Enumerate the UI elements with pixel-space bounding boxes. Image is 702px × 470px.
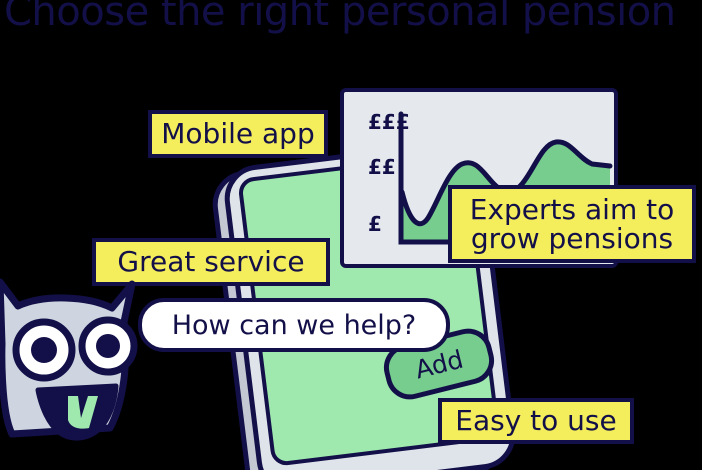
tag-easy-to-use: Easy to use (438, 398, 634, 444)
y-tick-label-2: ££ (368, 157, 396, 177)
y-tick-label-1: £ (368, 214, 382, 234)
tag-mobile-app: Mobile app (148, 110, 328, 158)
illustration-canvas: Choose the right personal pension £££ ££… (0, 0, 702, 470)
mascot-eye-right-pupil (96, 334, 120, 358)
tag-experts-line-1: Experts aim to (470, 195, 674, 224)
owl-mascot (0, 278, 152, 470)
page-title: Choose the right personal pension (4, 0, 676, 36)
y-tick-label-3: £££ (368, 112, 410, 132)
tag-experts-line-2: grow pensions (471, 224, 673, 253)
chat-speech-bubble: How can we help? (138, 298, 450, 352)
mascot-eye-left-pupil (31, 337, 57, 363)
tag-experts-grow-pensions: Experts aim to grow pensions (448, 185, 696, 263)
